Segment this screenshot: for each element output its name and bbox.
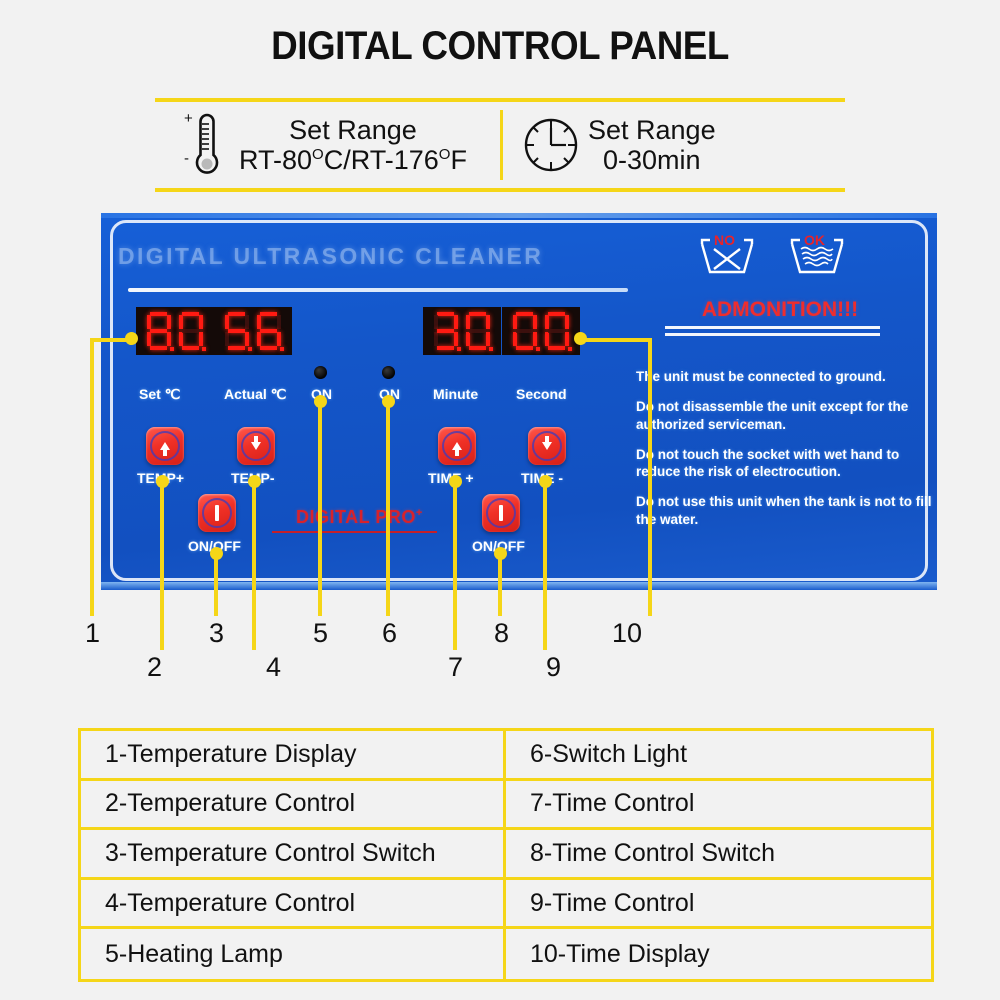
- callout-anchor-dot: [314, 395, 327, 408]
- second-display-label: Second: [516, 386, 567, 402]
- callout-anchor-dot: [156, 475, 169, 488]
- segment-d: [548, 346, 565, 350]
- spec-divider: [500, 110, 503, 180]
- callout-number: 1: [85, 618, 100, 649]
- time-onoff-button[interactable]: [482, 494, 520, 532]
- segment-b: [167, 315, 171, 329]
- callout-number: 7: [448, 652, 463, 683]
- panel-bottom-highlight: [101, 582, 937, 590]
- segment-b: [533, 315, 537, 329]
- arrow-down-icon: [542, 442, 552, 450]
- segment-d: [182, 346, 199, 350]
- callout-anchor-dot: [539, 475, 552, 488]
- callout-number: 9: [546, 652, 561, 683]
- arrow-down-icon: [251, 442, 261, 450]
- decimal-point: [568, 347, 572, 351]
- seven-segment-digit: [223, 311, 251, 351]
- callout-number: 4: [266, 652, 281, 683]
- decimal-point: [280, 347, 284, 351]
- minute-display: [423, 307, 501, 355]
- arrow-up-icon: [452, 442, 462, 450]
- legend-item: 2-Temperature Control: [81, 781, 506, 831]
- callout-anchor-dot: [574, 332, 587, 345]
- callout-anchor-dot: [494, 547, 507, 560]
- segment-a: [469, 312, 486, 316]
- callout-leader-line: [160, 483, 164, 650]
- callout-number: 10: [612, 618, 642, 649]
- decimal-point: [248, 347, 252, 351]
- callout-leader-line: [252, 483, 256, 650]
- callout-number: 6: [382, 618, 397, 649]
- warning-item: Do not touch the socket with wet hand to…: [636, 446, 941, 481]
- spec-time-range: Set Range 0-30min: [520, 102, 716, 188]
- set-display-label: Set ℃: [139, 386, 180, 403]
- segment-a: [182, 312, 199, 316]
- spec-temperature-range: + - Set Range RT-80OC/RT-176OF: [171, 102, 467, 188]
- segment-b: [486, 315, 490, 329]
- segment-g: [548, 329, 565, 333]
- degree-sup-f: O: [439, 146, 451, 163]
- callout-anchor-dot: [382, 395, 395, 408]
- segment-e: [545, 332, 549, 346]
- segment-f: [513, 315, 517, 329]
- segment-g: [516, 329, 533, 333]
- page-title: DIGITAL CONTROL PANEL: [40, 24, 960, 69]
- segment-a: [548, 312, 565, 316]
- legend-table: 1-Temperature Display 6-Switch Light 2-T…: [78, 728, 934, 982]
- segment-f: [466, 315, 470, 329]
- segment-f: [545, 315, 549, 329]
- sub-brand-label: DIGITAL PRO: [296, 507, 416, 527]
- callout-leader-line: [318, 403, 322, 616]
- admonition-rule-top: [665, 326, 880, 329]
- thermometer-icon: + -: [171, 106, 233, 184]
- heating-lamp-indicator: [314, 366, 327, 379]
- sub-brand-text: DIGITAL PRO+: [296, 507, 423, 528]
- callout-leader-line: [543, 483, 547, 650]
- seven-segment-digit: [464, 311, 492, 351]
- segment-b: [565, 315, 569, 329]
- arrow-up-icon: [160, 442, 170, 450]
- switch-light-indicator: [382, 366, 395, 379]
- temp-up-button[interactable]: [146, 427, 184, 465]
- minute-display-label: Minute: [433, 386, 478, 402]
- segment-f: [147, 315, 151, 329]
- legend-item: 5-Heating Lamp: [81, 929, 506, 979]
- legend-item: 4-Temperature Control: [81, 880, 506, 930]
- segment-g: [260, 329, 277, 333]
- segment-a: [437, 312, 454, 316]
- segment-d: [228, 346, 245, 350]
- segment-e: [513, 332, 517, 346]
- legend-item: 10-Time Display: [506, 929, 931, 979]
- time-down-button[interactable]: [528, 427, 566, 465]
- actual-temperature-display: [214, 307, 292, 355]
- segment-f: [434, 315, 438, 329]
- segment-d: [469, 346, 486, 350]
- legend-item: 6-Switch Light: [506, 731, 931, 781]
- decimal-point: [202, 347, 206, 351]
- segment-e: [147, 332, 151, 346]
- segment-a: [516, 312, 533, 316]
- segment-f: [257, 315, 261, 329]
- power-icon: [499, 505, 503, 521]
- segment-d: [437, 346, 454, 350]
- basket-no-icon: NO: [698, 236, 756, 276]
- segment-d: [260, 346, 277, 350]
- warning-item: Do not use this unit when the tank is no…: [636, 493, 941, 528]
- sub-brand-sup: +: [416, 507, 423, 519]
- seven-segment-digit: [543, 311, 571, 351]
- infographic-root: DIGITAL CONTROL PANEL + - Set Ra: [0, 0, 1000, 1000]
- second-display: [502, 307, 580, 355]
- callout-leader-line: [214, 555, 218, 616]
- callout-leader-line: [386, 403, 390, 616]
- legend-item: 8-Time Control Switch: [506, 830, 931, 880]
- spec-temp-pre: RT-80: [239, 145, 312, 175]
- actual-display-label: Actual ℃: [224, 386, 286, 403]
- spec-temp-mid: C/RT-176: [324, 145, 439, 175]
- temp-down-ring: [241, 431, 271, 461]
- set-temperature-display: [136, 307, 214, 355]
- segment-c: [533, 332, 537, 346]
- callout-number: 5: [313, 618, 328, 649]
- admonition-title: ADMONITION!!!: [675, 298, 885, 322]
- seven-segment-digit: [511, 311, 539, 351]
- power-icon: [215, 505, 219, 521]
- legend-item: 1-Temperature Display: [81, 731, 506, 781]
- admonition-rule-bottom: [665, 333, 880, 336]
- warning-item: The unit must be connected to ground.: [636, 368, 941, 385]
- callout-anchor-dot: [125, 332, 138, 345]
- segment-e: [257, 332, 261, 346]
- segment-e: [225, 332, 229, 346]
- segment-a: [260, 312, 277, 316]
- callout-anchor-dot: [449, 475, 462, 488]
- temp-down-button[interactable]: [237, 427, 275, 465]
- time-down-ring: [532, 431, 562, 461]
- segment-b: [245, 315, 249, 329]
- segment-b: [277, 315, 281, 329]
- segment-g: [182, 329, 199, 333]
- spec-time-line1: Set Range: [588, 115, 716, 145]
- seven-segment-digit: [255, 311, 283, 351]
- decimal-point: [489, 347, 493, 351]
- panel-top-highlight: [101, 213, 937, 218]
- svg-text:+: +: [184, 110, 193, 127]
- warning-list: The unit must be connected to ground. Do…: [636, 368, 941, 541]
- basket-ok-label: OK: [804, 232, 825, 248]
- segment-f: [179, 315, 183, 329]
- callout-anchor-dot: [248, 475, 261, 488]
- degree-sup-c: O: [312, 146, 324, 163]
- segment-c: [454, 332, 458, 346]
- callout-anchor-dot: [210, 547, 223, 560]
- seven-segment-digit: [145, 311, 173, 351]
- segment-c: [486, 332, 490, 346]
- segment-g: [437, 329, 454, 333]
- time-power-ring: [486, 498, 516, 528]
- basket-ok-icon: OK: [788, 236, 846, 276]
- segment-e: [466, 332, 470, 346]
- sub-brand-rule: [272, 531, 437, 533]
- spec-temp-line1: Set Range: [239, 115, 467, 145]
- callout-leader-line: [648, 338, 652, 616]
- time-up-button[interactable]: [438, 427, 476, 465]
- panel-brand-rule: [128, 288, 628, 292]
- callout-number: 3: [209, 618, 224, 649]
- seven-segment-digit: [432, 311, 460, 351]
- temp-power-ring: [202, 498, 232, 528]
- segment-e: [179, 332, 183, 346]
- segment-b: [454, 315, 458, 329]
- callout-leader-horizontal: [580, 338, 650, 342]
- segment-g: [150, 329, 167, 333]
- spec-temp-line2: RT-80OC/RT-176OF: [239, 145, 467, 175]
- segment-c: [167, 332, 171, 346]
- segment-a: [228, 312, 245, 316]
- segment-c: [245, 332, 249, 346]
- clock-icon: [520, 106, 582, 184]
- temp-up-ring: [150, 431, 180, 461]
- callout-number: 2: [147, 652, 162, 683]
- svg-text:-: -: [184, 150, 189, 167]
- callout-leader-line: [453, 483, 457, 650]
- temp-onoff-button[interactable]: [198, 494, 236, 532]
- segment-b: [199, 315, 203, 329]
- callout-number: 8: [494, 618, 509, 649]
- decimal-point: [170, 347, 174, 351]
- segment-g: [469, 329, 486, 333]
- segment-e: [434, 332, 438, 346]
- segment-d: [516, 346, 533, 350]
- spec-temp-end: F: [450, 145, 467, 175]
- segment-d: [150, 346, 167, 350]
- callout-leader-line: [90, 338, 94, 616]
- segment-g: [228, 329, 245, 333]
- legend-item: 3-Temperature Control Switch: [81, 830, 506, 880]
- segment-c: [199, 332, 203, 346]
- segment-c: [277, 332, 281, 346]
- legend-item: 9-Time Control: [506, 880, 931, 930]
- warning-item: Do not disassemble the unit except for t…: [636, 398, 941, 433]
- segment-c: [565, 332, 569, 346]
- segment-a: [150, 312, 167, 316]
- legend-item: 7-Time Control: [506, 781, 931, 831]
- spec-time-line2: 0-30min: [588, 145, 716, 175]
- seven-segment-digit: [177, 311, 205, 351]
- time-up-ring: [442, 431, 472, 461]
- callout-leader-line: [498, 555, 502, 616]
- spec-band: + - Set Range RT-80OC/RT-176OF: [155, 98, 845, 192]
- decimal-point: [536, 347, 540, 351]
- panel-brand-text: DIGITAL ULTRASONIC CLEANER: [118, 243, 543, 270]
- basket-no-label: NO: [714, 232, 735, 248]
- segment-f: [225, 315, 229, 329]
- decimal-point: [457, 347, 461, 351]
